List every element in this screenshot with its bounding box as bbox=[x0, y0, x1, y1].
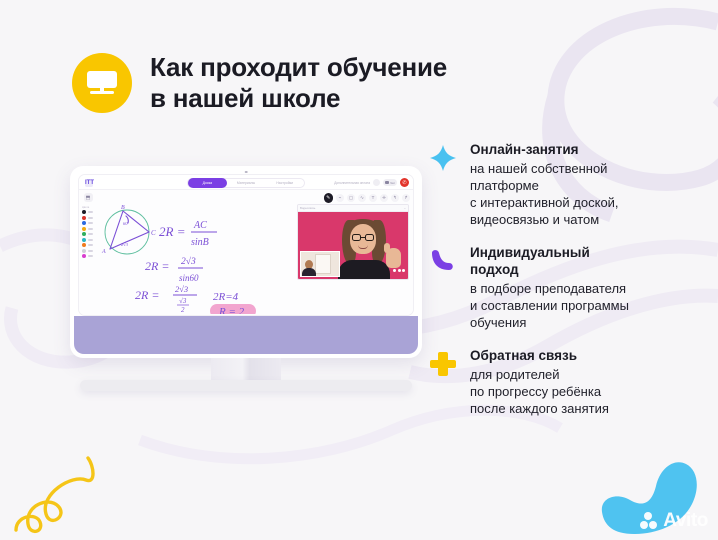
formula-3-den-den: 2 bbox=[181, 306, 185, 314]
pen-icon[interactable]: ✎ bbox=[324, 193, 334, 203]
label-side: 2√3 bbox=[121, 242, 129, 247]
color-swatch[interactable] bbox=[82, 210, 86, 214]
swatch-row bbox=[81, 227, 95, 231]
stroke-preview bbox=[88, 211, 93, 213]
lock-icon[interactable]: ⬒ bbox=[84, 193, 93, 202]
color-swatch[interactable] bbox=[82, 254, 86, 258]
formula-3-num: 2√3 bbox=[175, 284, 188, 294]
undo-icon[interactable]: ↰ bbox=[391, 194, 399, 202]
swatch-row bbox=[81, 221, 95, 225]
pip-student-view[interactable] bbox=[300, 251, 340, 277]
feature-title: Онлайн-занятия bbox=[470, 142, 708, 159]
stroke-preview bbox=[88, 244, 93, 246]
formula-3-left: 2R = bbox=[135, 288, 159, 302]
color-swatch[interactable] bbox=[82, 227, 86, 231]
swatch-row bbox=[81, 210, 95, 214]
page-title: Как проходит обучение в нашей школе bbox=[150, 52, 447, 113]
redo-icon[interactable]: ↱ bbox=[402, 194, 410, 202]
add-icon[interactable]: ✛ bbox=[380, 194, 388, 202]
formula-2-den: sin60 bbox=[179, 273, 199, 283]
app-body: ⬒ Цвета ✎ ⌁ bbox=[79, 190, 413, 316]
feature-item-online: Онлайн-занятия на нашей собственной плат… bbox=[428, 142, 708, 228]
star-icon bbox=[428, 143, 458, 173]
video-menu-icon[interactable]: ⌄ bbox=[404, 206, 406, 210]
whiteboard-canvas[interactable]: B A C 60 2√3 2R = AC sinB 2R = 2 bbox=[97, 202, 297, 314]
feature-text: для родителей по прогрессу ребёнка после… bbox=[470, 366, 708, 417]
swatch-row bbox=[81, 216, 95, 220]
avito-dots-icon bbox=[640, 512, 659, 531]
tab-settings[interactable]: Настройки bbox=[265, 181, 304, 185]
label-angle: 60 bbox=[123, 221, 128, 226]
label-A: A bbox=[101, 249, 106, 255]
chat-icon bbox=[385, 181, 389, 185]
feature-item-individual: Индивидуальный подход в подборе преподав… bbox=[428, 245, 708, 331]
phone-hangup-icon[interactable]: ✆ bbox=[400, 178, 409, 187]
tab-materials[interactable]: Материалы bbox=[227, 181, 266, 185]
swatch-row bbox=[81, 243, 95, 247]
formula-2-left: 2R = bbox=[145, 259, 169, 273]
drawing-tools[interactable]: ✎ ⌁ ▢ ∿ T ✛ ↰ ↱ bbox=[324, 193, 411, 203]
monitor-icon bbox=[87, 71, 117, 95]
feature-item-feedback: Обратная связь для родителей по прогресс… bbox=[428, 348, 708, 417]
label-B: B bbox=[121, 205, 125, 211]
stroke-preview bbox=[88, 217, 93, 219]
teacher-hand bbox=[386, 248, 401, 268]
swatch-row bbox=[81, 238, 95, 242]
feature-title: Индивидуальный подход bbox=[470, 245, 708, 278]
squiggle-decoration bbox=[14, 452, 114, 536]
stroke-preview bbox=[88, 233, 93, 235]
avito-brand: Avito bbox=[663, 510, 708, 532]
crescent-icon bbox=[428, 246, 458, 276]
pip-board bbox=[315, 254, 331, 274]
more-dots-icon[interactable] bbox=[393, 269, 405, 272]
feature-title: Обратная связь bbox=[470, 348, 708, 365]
tool-rail[interactable]: ⬒ Цвета bbox=[81, 193, 95, 258]
stroke-preview bbox=[88, 222, 93, 224]
session-label: Дополнительная оплата bbox=[334, 181, 370, 185]
formula-1-num: AC bbox=[193, 220, 207, 231]
swatch-row bbox=[81, 249, 95, 253]
color-swatch[interactable] bbox=[82, 238, 86, 242]
formula-3-den-num: √3 bbox=[179, 297, 187, 305]
formula-1-left: 2R = bbox=[159, 224, 185, 239]
video-panel[interactable]: Видеосвязь ⌄ bbox=[297, 204, 409, 280]
avatar[interactable] bbox=[373, 179, 380, 186]
swatch-row bbox=[81, 254, 95, 258]
feature-text: на нашей собственной платформе с интерак… bbox=[470, 160, 708, 229]
monitor-body: ITT Доска Материалы Настройки Дополнител… bbox=[70, 166, 422, 358]
header: Как проходит обучение в нашей школе bbox=[72, 52, 447, 113]
formula-1-den: sinB bbox=[191, 237, 209, 248]
color-swatch[interactable] bbox=[82, 221, 86, 225]
app-topbar: ITT Доска Материалы Настройки Дополнител… bbox=[79, 175, 413, 190]
color-swatch[interactable] bbox=[82, 216, 86, 220]
whiteboard-app-window: ITT Доска Материалы Настройки Дополнител… bbox=[78, 174, 414, 316]
app-topbar-right: Дополнительная оплата Чат ✆ bbox=[334, 178, 409, 187]
app-tab-group[interactable]: Доска Материалы Настройки bbox=[187, 178, 305, 188]
formula-2-num: 2√3 bbox=[181, 256, 196, 267]
monitor-mockup: ITT Доска Материалы Настройки Дополнител… bbox=[70, 166, 422, 416]
feature-text: в подборе преподавателя и составлении пр… bbox=[470, 280, 708, 331]
swatch-row bbox=[81, 232, 95, 236]
chat-label: Чат bbox=[390, 181, 395, 185]
tab-board[interactable]: Доска bbox=[188, 178, 227, 188]
video-title: Видеосвязь bbox=[300, 206, 315, 210]
avito-watermark: Avito bbox=[640, 510, 708, 532]
stroke-preview bbox=[88, 228, 93, 230]
monitor-stand-neck bbox=[211, 358, 281, 380]
color-swatch[interactable] bbox=[82, 243, 86, 247]
monitor-stand-base bbox=[80, 380, 412, 391]
color-swatch[interactable] bbox=[82, 232, 86, 236]
stroke-preview bbox=[88, 250, 93, 252]
video-titlebar: Видеосвязь ⌄ bbox=[298, 205, 408, 212]
label-C: C bbox=[151, 229, 156, 237]
monitor-chin bbox=[74, 316, 418, 354]
stroke-preview bbox=[88, 239, 93, 241]
highlighter-icon[interactable]: ⌁ bbox=[336, 194, 344, 202]
header-badge bbox=[72, 53, 132, 113]
slide-root: Как проходит обучение в нашей школе ITT … bbox=[0, 0, 718, 540]
shapes-icon[interactable]: ∿ bbox=[358, 194, 366, 202]
app-logo: ITT bbox=[85, 179, 93, 187]
feature-list: Онлайн-занятия на нашей собственной плат… bbox=[428, 142, 708, 418]
plus-icon bbox=[428, 349, 458, 379]
video-feed bbox=[298, 212, 408, 279]
eraser-icon[interactable]: ▢ bbox=[347, 194, 355, 202]
palette-label: Цвета bbox=[82, 206, 89, 209]
chat-button[interactable]: Чат bbox=[383, 179, 397, 186]
stroke-preview bbox=[88, 255, 93, 257]
result-2: R = 2 bbox=[218, 306, 245, 314]
teacher-body bbox=[338, 260, 390, 279]
webcam-dot bbox=[245, 171, 248, 174]
color-swatch[interactable] bbox=[82, 249, 86, 253]
glasses-icon bbox=[352, 234, 374, 241]
text-icon[interactable]: T bbox=[369, 194, 377, 202]
result-1: 2R=4 bbox=[213, 291, 239, 303]
pip-student-body bbox=[302, 268, 316, 277]
